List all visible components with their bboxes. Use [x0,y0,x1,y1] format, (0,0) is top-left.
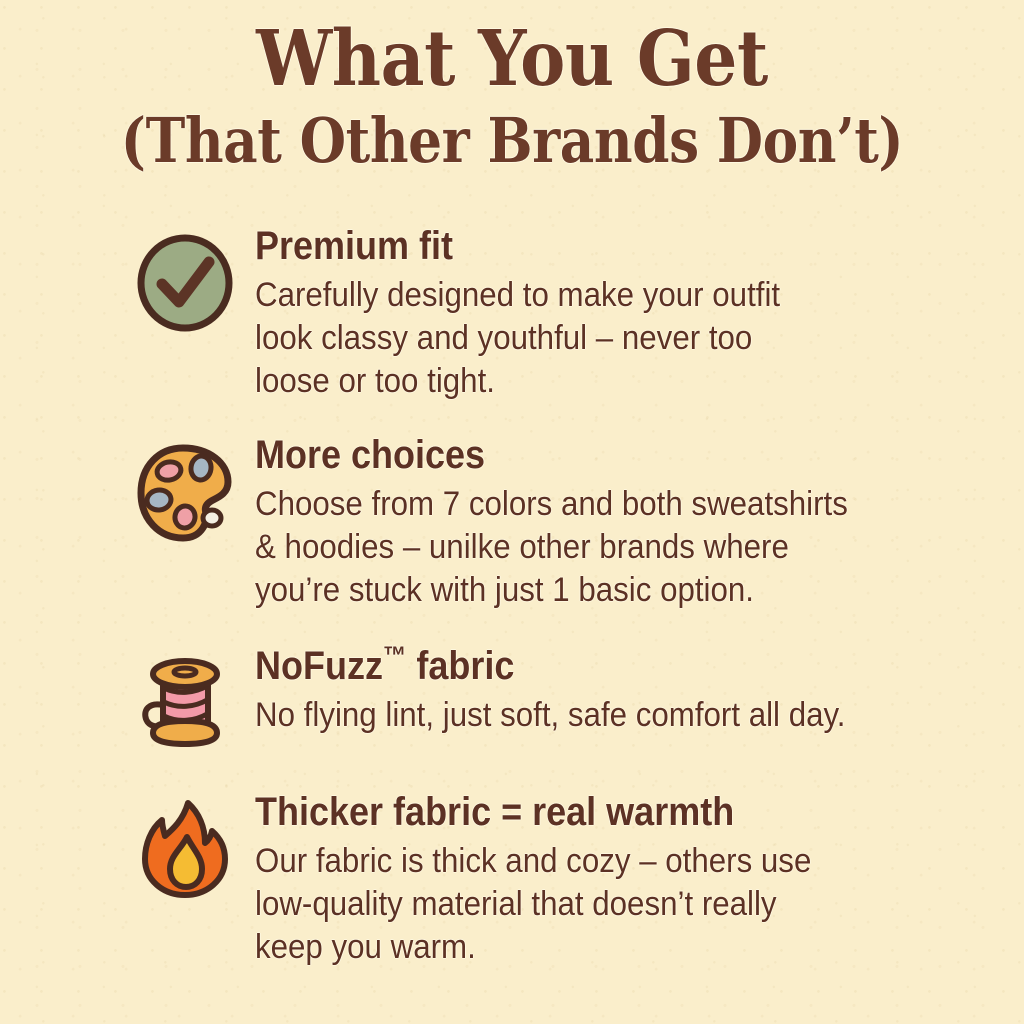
feature-item-more-choices: More choices Choose from 7 colors and bo… [0,431,1024,612]
desc-line: keep you warm. [255,926,984,969]
desc-line: look classy and youthful – never too [255,317,984,360]
title-line-1: What You Get [61,16,962,102]
feature-item-thicker-fabric: Thicker fabric = real warmth Our fabric … [0,788,1024,969]
desc-line: Our fabric is thick and cozy – others us… [255,840,984,883]
desc-line: Choose from 7 colors and both sweatshirt… [255,483,984,526]
title-line-2: (That Other Brands Don’t) [72,104,953,178]
feature-title: More choices [255,431,911,479]
feature-text-more-choices: More choices Choose from 7 colors and bo… [255,431,984,612]
poster-canvas: What You Get (That Other Brands Don’t) P… [0,0,1024,1024]
check-circle-icon [133,230,237,336]
feature-text-nofuzz-fabric: NoFuzz™ fabric No flying lint, just soft… [255,642,984,737]
feature-item-premium-fit: Premium fit Carefully designed to make y… [0,222,1024,403]
desc-line: loose or too tight. [255,360,984,403]
desc-line: you’re stuck with just 1 basic option. [255,569,984,612]
desc-line: Carefully designed to make your outfit [255,274,984,317]
desc-line: No flying lint, just soft, safe comfort … [255,694,984,737]
feature-text-thicker-fabric: Thicker fabric = real warmth Our fabric … [255,788,984,969]
flame-icon [133,796,237,902]
feature-description: Carefully designed to make your outfit l… [255,274,984,403]
feature-title-suffix: fabric [406,644,514,688]
feature-description: Our fabric is thick and cozy – others us… [255,840,984,969]
feature-title: Thicker fabric = real warmth [255,788,911,836]
feature-title-prefix: NoFuzz [255,644,383,688]
feature-list: Premium fit Carefully designed to make y… [0,222,1024,969]
feature-description: No flying lint, just soft, safe comfort … [255,694,984,737]
feature-item-nofuzz-fabric: NoFuzz™ fabric No flying lint, just soft… [0,642,1024,756]
trademark-icon: ™ [383,641,406,671]
feature-title: Premium fit [255,222,911,270]
feature-title: NoFuzz™ fabric [255,642,911,690]
feature-description: Choose from 7 colors and both sweatshirt… [255,483,984,612]
desc-line: low-quality material that doesn’t really [255,883,984,926]
desc-line: & hoodies – unilke other brands where [255,526,984,569]
paint-palette-icon [133,439,237,545]
feature-text-premium-fit: Premium fit Carefully designed to make y… [255,222,984,403]
page-title: What You Get (That Other Brands Don’t) [0,16,1024,178]
thread-spool-icon [133,650,237,756]
